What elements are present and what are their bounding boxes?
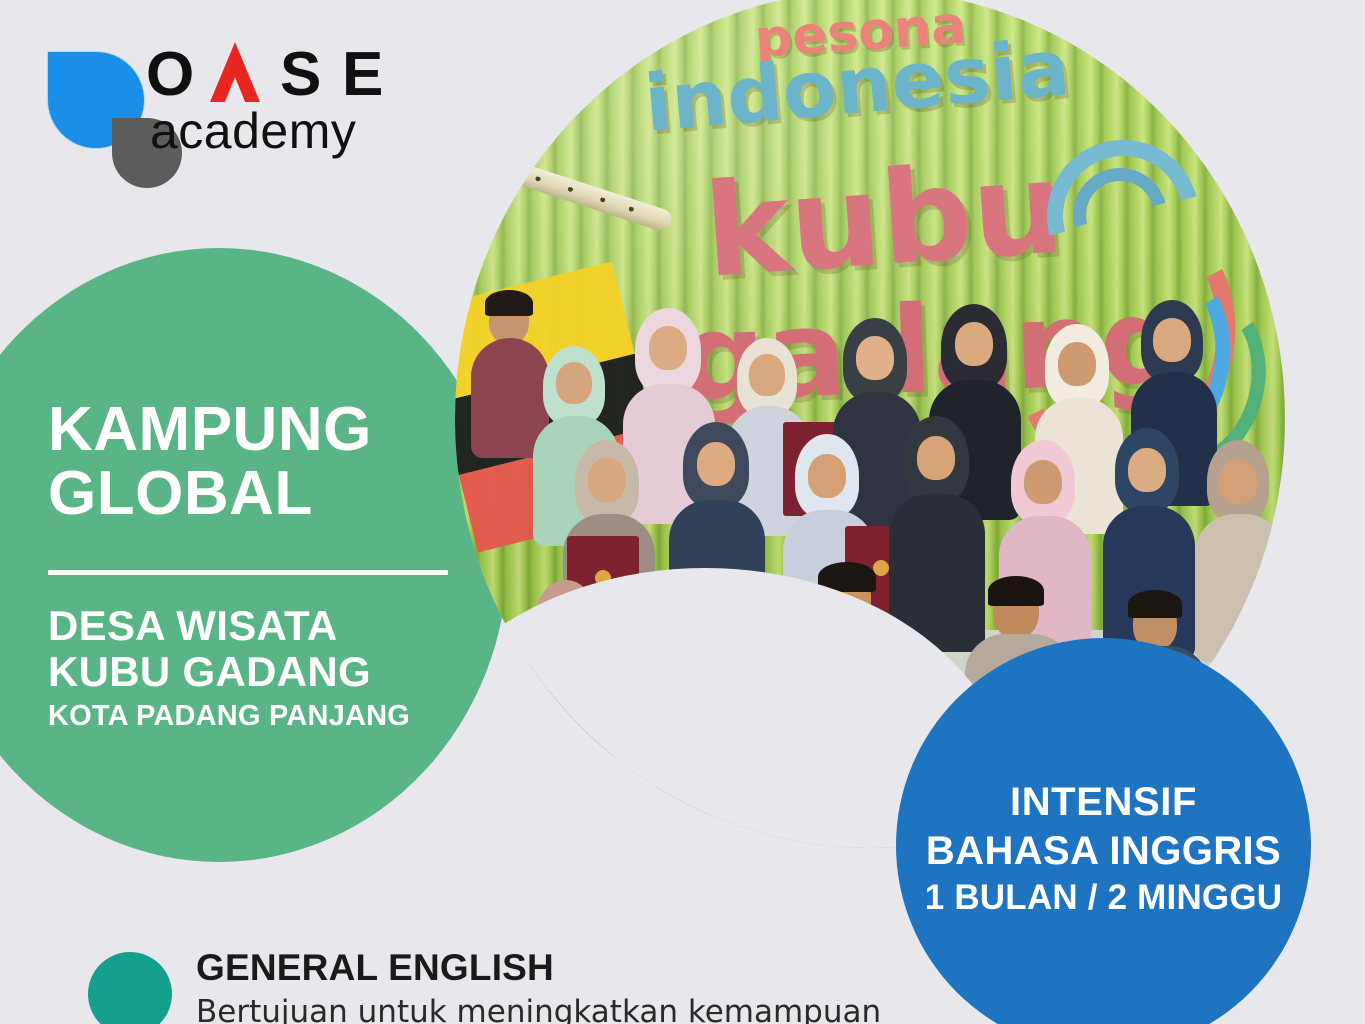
badge-line-language: BAHASA INGGRIS: [896, 826, 1311, 876]
program-badge-content: INTENSIF BAHASA INGGRIS 1 BULAN / 2 MING…: [896, 778, 1311, 920]
poster-canvas: O A S E academy KAMPUNG GLOBAL DESA WISA…: [0, 0, 1365, 1024]
village-name: DESA WISATA KUBU GADANG: [48, 603, 468, 695]
green-panel-content: KAMPUNG GLOBAL DESA WISATA KUBU GADANG K…: [48, 398, 468, 733]
oase-academy-logo: O A S E academy: [40, 40, 400, 210]
green-panel: KAMPUNG GLOBAL DESA WISATA KUBU GADANG K…: [0, 248, 508, 862]
page-title: KAMPUNG GLOBAL: [48, 398, 468, 526]
divider: [48, 570, 448, 575]
badge-line-intensif: INTENSIF: [896, 778, 1311, 826]
logo-wordmark: O A S E: [146, 42, 406, 108]
program-title: GENERAL ENGLISH: [196, 946, 1016, 990]
logo-letter-a: A: [208, 42, 260, 104]
program-description: Bertujuan untuk meningkatkan kemampuan: [196, 992, 1016, 1024]
program-section: GENERAL ENGLISH Bertujuan untuk meningka…: [196, 946, 1016, 1024]
logo-letter-e: E: [342, 42, 383, 108]
bullet-dot-icon: [88, 952, 172, 1024]
badge-line-duration: 1 BULAN / 2 MINGGU: [896, 876, 1311, 920]
logo-subword: academy: [150, 102, 356, 160]
logo-letter-o: O: [146, 42, 194, 108]
logo-letter-s: S: [280, 42, 321, 108]
city-name: KOTA PADANG PANJANG: [48, 699, 468, 733]
